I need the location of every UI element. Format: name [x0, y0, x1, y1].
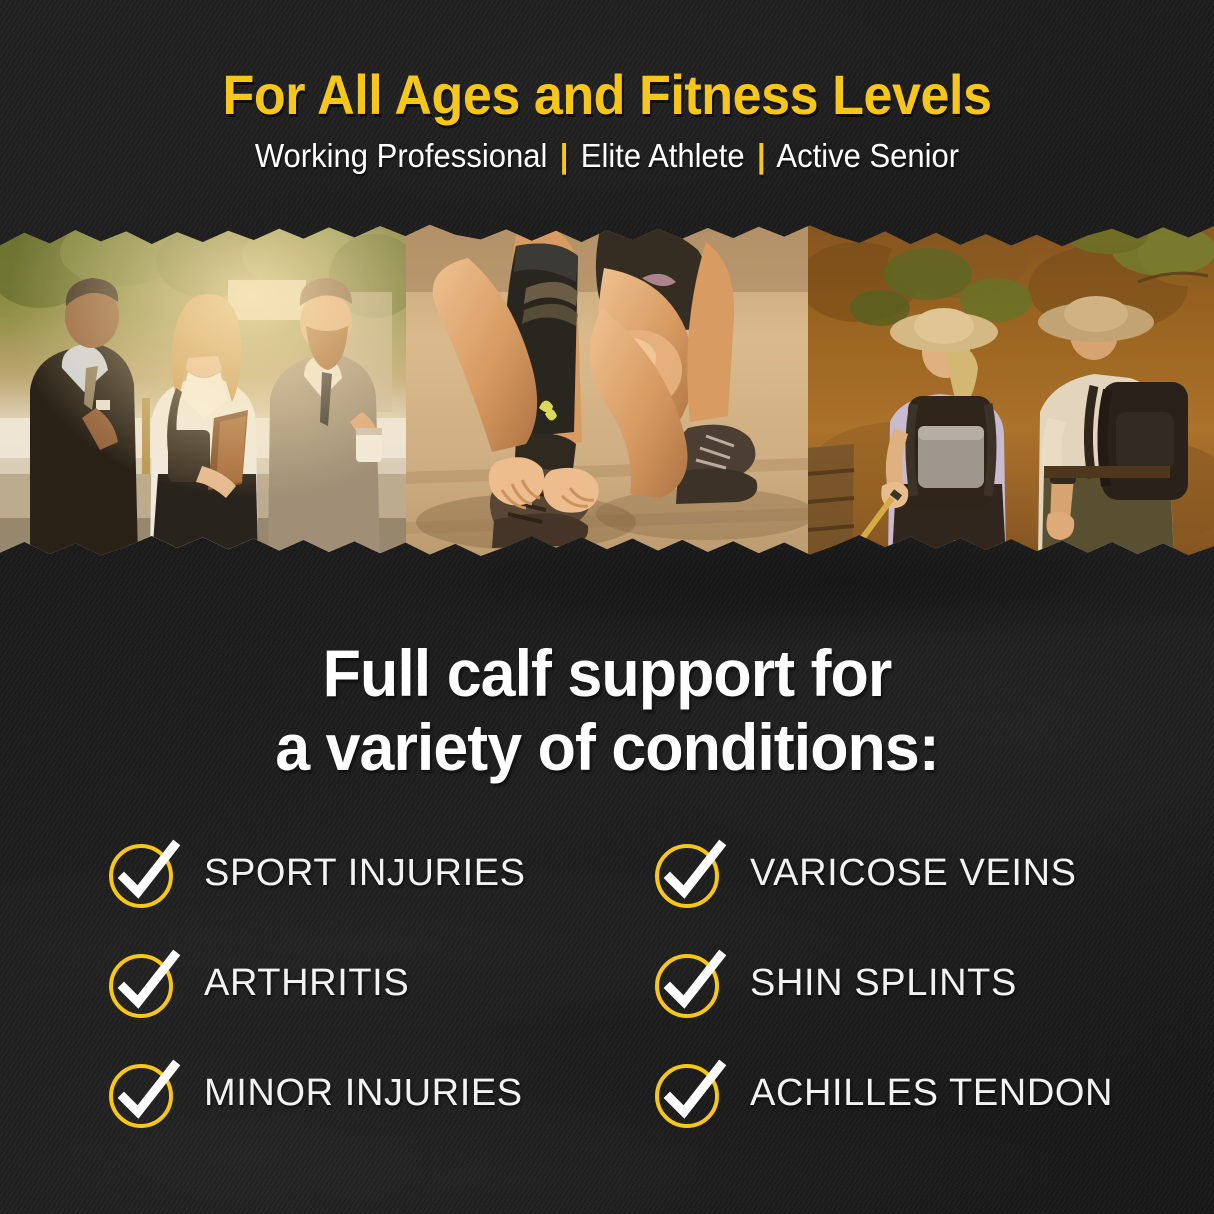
condition-label: SPORT INJURIES: [204, 852, 526, 895]
audience-working-professional: Working Professional: [255, 137, 548, 174]
condition-label: VARICOSE VEINS: [750, 852, 1077, 895]
page-title: For All Ages and Fitness Levels: [42, 64, 1171, 126]
main-heading-line-1: Full calf support for: [30, 636, 1183, 710]
condition-item-sport-injuries: SPORT INJURIES: [104, 818, 650, 928]
header-block: For All Ages and Fitness Levels Working …: [0, 0, 1214, 176]
main-heading: Full calf support for a variety of condi…: [30, 636, 1183, 784]
photo-strip: [0, 222, 1214, 558]
main-heading-line-2: a variety of conditions:: [30, 710, 1183, 784]
condition-label: MINOR INJURIES: [204, 1072, 523, 1115]
condition-item-arthritis: ARTHRITIS: [104, 928, 650, 1038]
check-circle-icon: [104, 1054, 182, 1132]
audience-elite-athlete: Elite Athlete: [581, 137, 745, 174]
condition-item-shin-splints: SHIN SPLINTS: [650, 928, 1134, 1038]
audience-subtitle: Working Professional | Elite Athlete | A…: [36, 136, 1177, 176]
condition-label: ARTHRITIS: [204, 962, 409, 1005]
conditions-checklist: SPORT INJURIES VARICOSE VEINS ARTHRITIS: [104, 818, 1134, 1148]
product-feature-poster: For All Ages and Fitness Levels Working …: [0, 0, 1214, 1214]
check-circle-icon: [650, 834, 728, 912]
working-professionals-photo: [0, 222, 406, 558]
check-circle-icon: [650, 1054, 728, 1132]
check-circle-icon: [104, 944, 182, 1022]
active-seniors-photo: [808, 222, 1214, 558]
condition-label: SHIN SPLINTS: [750, 962, 1017, 1005]
condition-item-minor-injuries: MINOR INJURIES: [104, 1038, 650, 1148]
condition-item-achilles-tendon: ACHILLES TENDON: [650, 1038, 1134, 1148]
audience-active-senior: Active Senior: [776, 137, 959, 174]
check-circle-icon: [650, 944, 728, 1022]
condition-label: ACHILLES TENDON: [750, 1072, 1113, 1115]
condition-item-varicose-veins: VARICOSE VEINS: [650, 818, 1134, 928]
elite-athlete-photo: [406, 222, 808, 558]
separator-pipe-2: |: [753, 137, 769, 174]
separator-pipe-1: |: [556, 137, 572, 174]
check-circle-icon: [104, 834, 182, 912]
